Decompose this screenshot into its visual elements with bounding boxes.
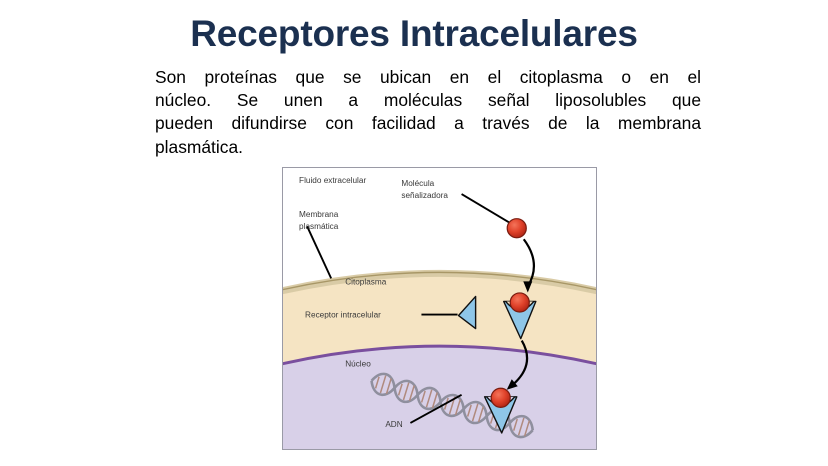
signal-molecule-nucleus — [491, 388, 510, 407]
cell-diagram-figure: Fluido extracelular Membrana plasmática … — [282, 167, 597, 450]
label-nucleus: Núcleo — [345, 360, 371, 369]
label-signal-molecule-line1: Molécula — [401, 179, 434, 188]
signal-molecule-extracellular — [507, 219, 526, 238]
slide-canvas: Receptores Intracelulares Son proteínas … — [0, 0, 828, 466]
body-line-1: Son proteínas que se ubican en el citopl… — [155, 66, 701, 89]
body-paragraph: Son proteínas que se ubican en el citopl… — [155, 66, 701, 159]
label-plasma-membrane-line2: plasmática — [299, 222, 339, 231]
body-line-3: pueden difundirse con facilidad a través… — [155, 112, 701, 135]
body-line-2: núcleo. Se unen a moléculas señal liposo… — [155, 89, 701, 112]
signal-molecule-cytoplasm — [510, 293, 529, 312]
label-plasma-membrane-line1: Membrana — [299, 210, 339, 219]
page-title: Receptores Intracelulares — [0, 12, 828, 56]
label-intracellular-receptor: Receptor intracelular — [305, 311, 381, 320]
label-cytoplasm: Citoplasma — [345, 277, 387, 286]
body-line-4: plasmática. — [155, 136, 701, 159]
label-dna: ADN — [385, 420, 402, 429]
label-extracellular-fluid: Fluido extracelular — [299, 176, 366, 185]
cell-diagram-svg: Fluido extracelular Membrana plasmática … — [283, 168, 596, 449]
label-signal-molecule-line2: señalizadora — [401, 191, 448, 200]
